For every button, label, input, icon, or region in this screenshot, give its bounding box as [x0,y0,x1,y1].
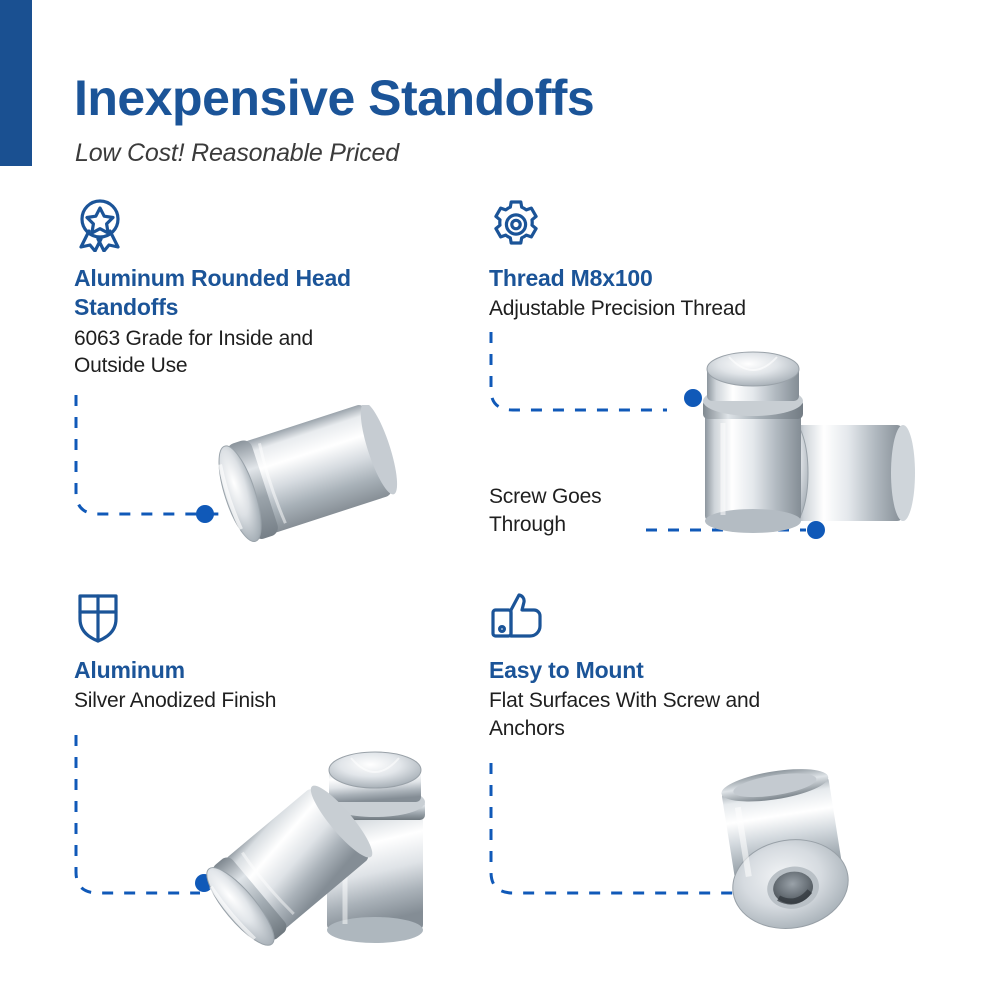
product-standoff-pair-upright-and-tilted [675,335,935,570]
product-standoff-pair-tilted-and-upright [185,740,445,955]
feature-description: 6063 Grade for Inside and Outside Use [74,325,374,380]
feature-title: Aluminum [74,656,364,685]
page-subtitle: Low Cost! Reasonable Priced [75,139,399,168]
page-title: Inexpensive Standoffs [74,72,594,125]
feature-title: Easy to Mount [489,656,779,685]
connector-path-2 [491,332,667,410]
feature-description: Adjustable Precision Thread [489,295,789,322]
infographic-page: Inexpensive Standoffs Low Cost! Reasonab… [0,0,1000,1000]
gear-icon [489,198,543,252]
thumbs-up-icon [489,590,545,644]
feature-block-easy-to-mount: Easy to Mount Flat Surfaces With Screw a… [489,590,889,742]
feature-block-thread-m8x100: Thread M8x100 Adjustable Precision Threa… [489,198,889,323]
shield-icon [74,590,122,644]
feature-block-aluminum-rounded-head-standoffs: Aluminum Rounded Head Standoffs 6063 Gra… [74,198,474,379]
award-badge-icon [74,198,126,252]
feature-description: Flat Surfaces With Screw and Anchors [489,687,789,742]
accent-bar [0,0,32,166]
connector-path-3 [76,735,200,893]
feature-description: Silver Anodized Finish [74,687,374,714]
product-standoff-end-on-with-screw-hole [700,765,890,945]
feature-block-aluminum: Aluminum Silver Anodized Finish [74,590,474,715]
feature-title: Thread M8x100 [489,264,779,293]
product-standoff-tilted-single [195,405,415,555]
feature-title: Aluminum Rounded Head Standoffs [74,264,364,323]
callout-screw-goes-through: Screw Goes Through [489,483,639,539]
